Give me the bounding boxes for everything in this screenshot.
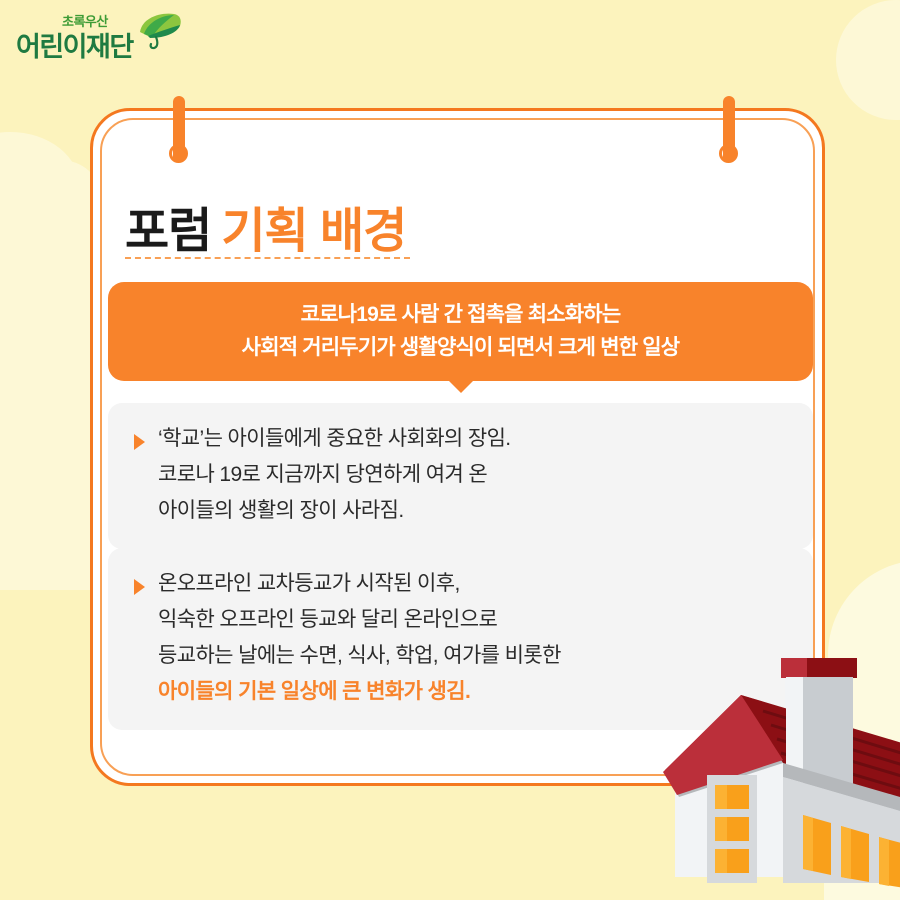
triangle-down-icon [449,381,473,393]
logo-title: 어린이재단 [16,25,133,64]
triangle-right-icon [134,434,145,450]
chimney-cap-light [781,658,807,678]
cloud-shape-left-b [20,160,100,230]
bullet-card-1-line-2: 코로나 19로 지금까지 당연하게 여겨 온 [130,457,791,493]
infographic-canvas: 초록우산 어린이재단 포럼기획 배경 코로나19로 사람 간 접촉을 최소화하는… [0,0,900,900]
highlight-banner: 코로나19로 사람 간 접촉을 최소화하는 사회적 거리두기가 생활양식이 되면… [108,282,813,381]
organization-logo[interactable]: 초록우산 어린이재단 [14,8,184,64]
bullet-card-1-line-1-text: ‘학교’는 아이들에게 중요한 사회화의 장임. [158,427,511,450]
hanging-ring-left [169,144,188,163]
house-illustration [655,625,900,900]
banner-line-1: 코로나19로 사람 간 접촉을 최소화하는 [118,298,803,331]
bullet-card-1-line-1: ‘학교’는 아이들에게 중요한 사회화의 장임. [130,421,791,457]
cloud-band-left [0,195,100,590]
title-divider [125,257,410,259]
chimney-front [803,677,853,785]
page-title: 포럼기획 배경 [125,191,406,261]
bullet-card-1-line-3: 아이들의 생활의 장이 사라짐. [130,493,791,529]
banner-line-2: 사회적 거리두기가 생활양식이 되면서 크게 변한 일상 [118,331,803,364]
page-title-accent: 기획 배경 [221,205,406,258]
page-title-primary: 포럼 [125,205,211,258]
bullet-card-2-line-1: 온오프라인 교차등교가 시작된 이후, [130,566,791,602]
bullet-card-1: ‘학교’는 아이들에게 중요한 사회화의 장임. 코로나 19로 지금까지 당연… [108,403,813,549]
cloud-shape-top-right [836,0,900,120]
bullet-card-2-line-1-text: 온오프라인 교차등교가 시작된 이후, [158,572,460,595]
green-umbrella-leaf-icon [136,12,182,50]
cloud-shape-left-a [0,132,80,242]
triangle-right-icon [134,579,145,595]
house-front-windows [715,785,749,873]
hanging-ring-right [719,144,738,163]
